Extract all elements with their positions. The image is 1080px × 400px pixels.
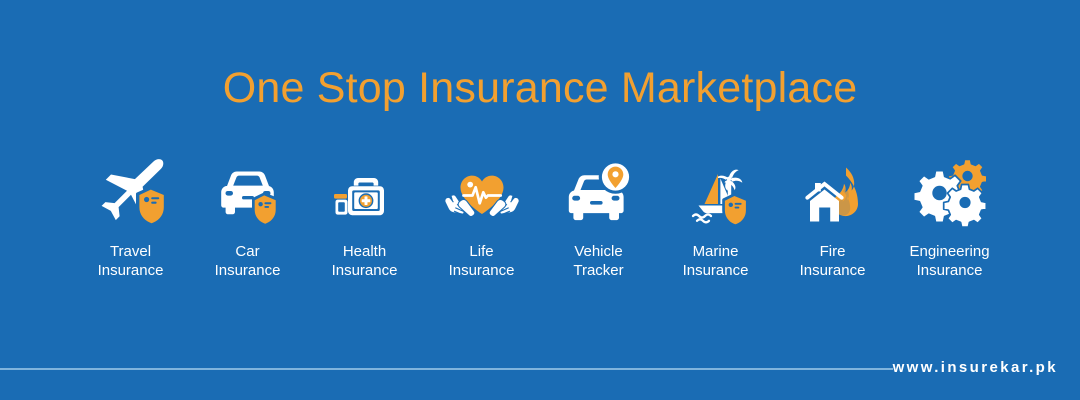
service-label-life: Life Insurance bbox=[449, 242, 515, 280]
service-label-travel: Travel Insurance bbox=[98, 242, 164, 280]
service-label-car: Car Insurance bbox=[215, 242, 281, 280]
insurance-marketplace-banner: One Stop Insurance Marketplace bbox=[0, 0, 1080, 400]
page-title: One Stop Insurance Marketplace bbox=[0, 62, 1080, 114]
car-location-pin-icon bbox=[553, 152, 645, 230]
footer-divider bbox=[0, 368, 893, 370]
service-item-fire[interactable]: Fire Insurance bbox=[774, 152, 891, 280]
service-label-marine: Marine Insurance bbox=[683, 242, 749, 280]
sailboat-palm-shield-icon bbox=[670, 152, 762, 230]
service-item-health[interactable]: Health Insurance bbox=[306, 152, 423, 280]
heart-hands-icon bbox=[436, 152, 528, 230]
website-url[interactable]: www.insurekar.pk bbox=[893, 358, 1058, 378]
medical-kit-icon bbox=[319, 152, 411, 230]
airplane-shield-icon bbox=[85, 152, 177, 230]
service-label-vehicle-tracker: Vehicle Tracker bbox=[573, 242, 623, 280]
gears-icon bbox=[904, 152, 996, 230]
service-label-fire: Fire Insurance bbox=[800, 242, 866, 280]
house-flame-icon bbox=[787, 152, 879, 230]
service-item-engineering[interactable]: Engineering Insurance bbox=[891, 152, 1008, 280]
car-shield-icon bbox=[202, 152, 294, 230]
service-item-marine[interactable]: Marine Insurance bbox=[657, 152, 774, 280]
service-label-engineering: Engineering Insurance bbox=[909, 242, 989, 280]
service-item-vehicle-tracker[interactable]: Vehicle Tracker bbox=[540, 152, 657, 280]
service-item-travel[interactable]: Travel Insurance bbox=[72, 152, 189, 280]
service-item-car[interactable]: Car Insurance bbox=[189, 152, 306, 280]
service-item-life[interactable]: Life Insurance bbox=[423, 152, 540, 280]
service-label-health: Health Insurance bbox=[332, 242, 398, 280]
services-row: Travel Insurance bbox=[72, 152, 1008, 280]
